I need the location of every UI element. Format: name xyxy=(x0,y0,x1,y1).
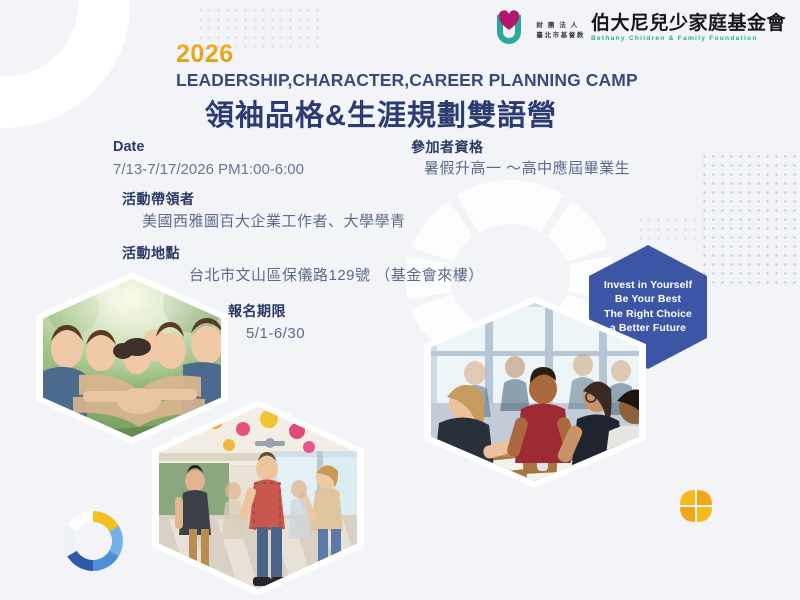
slogan-line-2: Be Your Best xyxy=(615,293,681,306)
info-qualification: 參加者資格 暑假升高一 ～高中應屆畢業生 xyxy=(411,138,630,179)
info-deadline-value: 5/1-6/30 xyxy=(246,324,305,344)
info-date-label: Date xyxy=(113,138,304,157)
foundation-logo: 財 團 法 人 臺北市基督教 伯大尼兒少家庭基金會 Bethany Childr… xyxy=(489,8,786,48)
slogan-line-3: The Right Choice xyxy=(604,308,692,321)
slogan-line-1: Invest in Yourself xyxy=(604,279,692,292)
heart-in-u-logo-icon xyxy=(489,8,529,48)
info-qualification-value: 暑假升高一 ～高中應屆畢業生 xyxy=(424,159,630,179)
brand-subtitle: 財 團 法 人 臺北市基督教 xyxy=(536,23,585,42)
info-leader-value: 美國西雅圖百大企業工作者、大學學青 xyxy=(142,212,406,232)
photo-team-handstack xyxy=(36,272,228,444)
camp-title-english: LEADERSHIP,CHARACTER,CAREER PLANNING CAM… xyxy=(176,70,638,91)
background-dot-grid-right-small xyxy=(636,216,696,246)
poster-canvas: 財 團 法 人 臺北市基督教 伯大尼兒少家庭基金會 Bethany Childr… xyxy=(0,0,800,600)
brand-name: 伯大尼兒少家庭基金會 Bethany Children & Family Fou… xyxy=(591,14,786,43)
info-date-value: 7/13-7/17/2026 PM1:00-6:00 xyxy=(113,160,304,180)
slogan-line-4: a Better Future xyxy=(610,322,686,335)
brand-small-line2: 臺北市基督教 xyxy=(536,33,585,40)
info-date: Date 7/13-7/17/2026 PM1:00-6:00 xyxy=(113,138,304,180)
info-place-value: 台北市文山區保儀路129號 （基金會來樓） xyxy=(189,266,484,286)
segmented-ring-icon xyxy=(62,510,124,572)
brand-text: 財 團 法 人 臺北市基督教 伯大尼兒少家庭基金會 Bethany Childr… xyxy=(536,14,786,43)
camp-title-chinese: 領袖品格&生涯規劃雙語營 xyxy=(205,92,557,134)
background-dot-grid-right xyxy=(700,152,800,284)
background-ring-top-left xyxy=(0,0,130,128)
info-qualification-label: 參加者資格 xyxy=(411,138,630,156)
photo-students-dancing xyxy=(152,400,364,596)
info-place-label: 活動地點 xyxy=(122,244,484,262)
info-leader-label: 活動帶領者 xyxy=(122,190,406,208)
yellow-pinwheel-icon xyxy=(678,488,714,524)
brand-name-cn: 伯大尼兒少家庭基金會 xyxy=(591,14,786,34)
info-deadline-label: 報名期限 xyxy=(228,302,305,320)
info-deadline: 報名期限 5/1-6/30 xyxy=(228,302,305,344)
year-heading: 2026 xyxy=(176,40,234,69)
brand-name-en: Bethany Children & Family Foundation xyxy=(591,35,786,42)
info-leader: 活動帶領者 美國西雅圖百大企業工作者、大學學青 xyxy=(122,190,406,232)
info-place: 活動地點 台北市文山區保儀路129號 （基金會來樓） xyxy=(122,244,484,286)
brand-small-line1: 財 團 法 人 xyxy=(536,23,585,30)
